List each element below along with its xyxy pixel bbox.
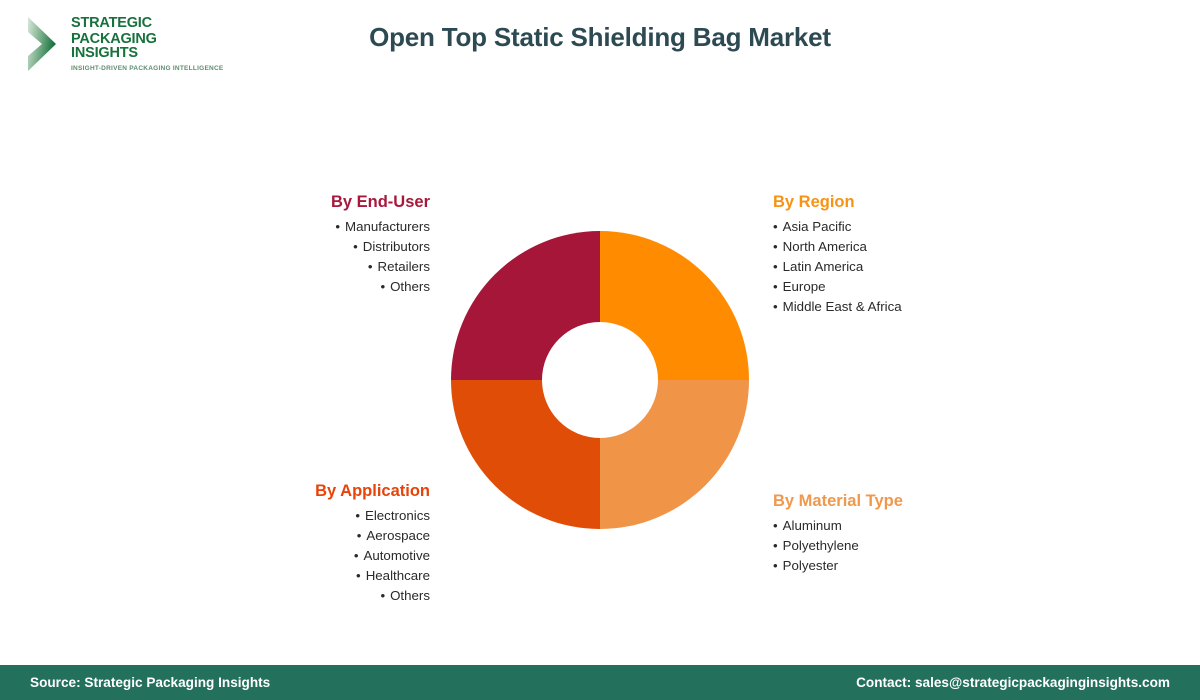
footer-bar: Source: Strategic Packaging Insights Con… xyxy=(0,665,1200,700)
footer-source: Source: Strategic Packaging Insights xyxy=(30,675,270,690)
list-item: Europe xyxy=(773,277,1033,297)
list-item: Polyethylene xyxy=(773,536,1033,556)
list-item: Middle East & Africa xyxy=(773,297,1033,317)
list-item: Automotive xyxy=(230,546,430,566)
market-infographic-page: STRATEGIC PACKAGING INSIGHTS INSIGHT-DRI… xyxy=(0,0,1200,700)
list-item: North America xyxy=(773,237,1033,257)
segment-material-type: By Material Type Aluminum Polyethylene P… xyxy=(773,492,1033,576)
segment-region-title: By Region xyxy=(773,193,1033,212)
segment-application-list: Electronics Aerospace Automotive Healthc… xyxy=(230,506,430,606)
list-item: Polyester xyxy=(773,556,1033,576)
donut-chart-svg xyxy=(451,231,749,529)
segment-material-type-title: By Material Type xyxy=(773,492,1033,511)
list-item: Electronics xyxy=(230,506,430,526)
segment-end-user: By End-User Manufacturers Distributors R… xyxy=(230,193,430,297)
list-item: Others xyxy=(230,586,430,606)
list-item: Asia Pacific xyxy=(773,217,1033,237)
donut-chart xyxy=(451,231,749,529)
list-item: Retailers xyxy=(230,257,430,277)
list-item: Distributors xyxy=(230,237,430,257)
segment-end-user-list: Manufacturers Distributors Retailers Oth… xyxy=(230,217,430,297)
brand-tagline: INSIGHT-DRIVEN PACKAGING INTELLIGENCE xyxy=(71,66,226,73)
segment-region-list: Asia Pacific North America Latin America… xyxy=(773,217,1033,317)
list-item: Manufacturers xyxy=(230,217,430,237)
page-title: Open Top Static Shielding Bag Market xyxy=(0,22,1200,53)
segment-material-type-list: Aluminum Polyethylene Polyester xyxy=(773,516,1033,576)
segment-application-title: By Application xyxy=(230,482,430,501)
list-item: Healthcare xyxy=(230,566,430,586)
list-item: Aluminum xyxy=(773,516,1033,536)
footer-contact[interactable]: Contact: sales@strategicpackaginginsight… xyxy=(856,675,1170,690)
segment-application: By Application Electronics Aerospace Aut… xyxy=(230,482,430,606)
donut-center-hole xyxy=(542,322,658,438)
list-item: Aerospace xyxy=(230,526,430,546)
segment-end-user-title: By End-User xyxy=(230,193,430,212)
list-item: Others xyxy=(230,277,430,297)
segment-region: By Region Asia Pacific North America Lat… xyxy=(773,193,1033,317)
list-item: Latin America xyxy=(773,257,1033,277)
